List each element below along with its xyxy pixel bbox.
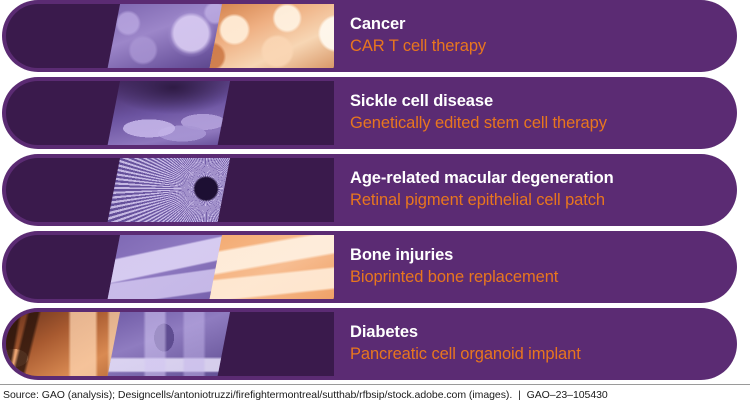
regenerative-medicine-infographic: Cancer CAR T cell therapy Sickle cell di…: [0, 0, 750, 406]
row-text-block: Cancer CAR T cell therapy: [350, 0, 719, 72]
lab-bench-orange-image: [207, 312, 334, 376]
row-image-strip: [6, 81, 334, 145]
therapy-pill: Diabetes Pancreatic cell organoid implan…: [2, 308, 737, 380]
disease-label: Sickle cell disease: [350, 91, 719, 113]
therapy-label: Pancreatic cell organoid implant: [350, 344, 719, 366]
report-number: GAO–23–105430: [527, 389, 608, 401]
therapy-row-list: Cancer CAR T cell therapy Sickle cell di…: [0, 0, 750, 385]
therapy-pill: Cancer CAR T cell therapy: [2, 0, 737, 72]
source-credit: Source: GAO (analysis); Designcells/anto…: [3, 389, 512, 401]
row-text-block: Bone injuries Bioprinted bone replacemen…: [350, 231, 719, 303]
disease-label: Diabetes: [350, 322, 719, 344]
iris-orange-light-image: [207, 158, 334, 222]
therapy-label: CAR T cell therapy: [350, 36, 719, 58]
tumor-cells-orange-light-image: [207, 4, 334, 68]
therapy-pill: Bone injuries Bioprinted bone replacemen…: [2, 231, 737, 303]
footer-divider: [0, 384, 750, 385]
row-image-strip: [6, 4, 334, 68]
bone-xray-orange-image: [207, 235, 334, 299]
row-text-block: Age-related macular degeneration Retinal…: [350, 154, 719, 226]
row-text-block: Diabetes Pancreatic cell organoid implan…: [350, 308, 719, 380]
therapy-label: Genetically edited stem cell therapy: [350, 113, 719, 135]
table-row: Sickle cell disease Genetically edited s…: [2, 77, 750, 149]
table-row: Bone injuries Bioprinted bone replacemen…: [2, 231, 750, 303]
row-image-strip: [6, 312, 334, 376]
therapy-label: Bioprinted bone replacement: [350, 267, 719, 289]
disease-label: Age-related macular degeneration: [350, 168, 719, 190]
table-row: Cancer CAR T cell therapy: [2, 0, 750, 72]
therapy-pill: Sickle cell disease Genetically edited s…: [2, 77, 737, 149]
therapy-label: Retinal pigment epithelial cell patch: [350, 190, 719, 212]
source-note: Source: GAO (analysis); Designcells/anto…: [3, 389, 608, 401]
row-image-strip: [6, 158, 334, 222]
table-row: Diabetes Pancreatic cell organoid implan…: [2, 308, 750, 380]
therapy-pill: Age-related macular degeneration Retinal…: [2, 154, 737, 226]
row-text-block: Sickle cell disease Genetically edited s…: [350, 77, 719, 149]
disease-label: Cancer: [350, 14, 719, 36]
row-image-strip: [6, 235, 334, 299]
disease-label: Bone injuries: [350, 245, 719, 267]
sickle-cells-orange-image: [207, 81, 334, 145]
table-row: Age-related macular degeneration Retinal…: [2, 154, 750, 226]
